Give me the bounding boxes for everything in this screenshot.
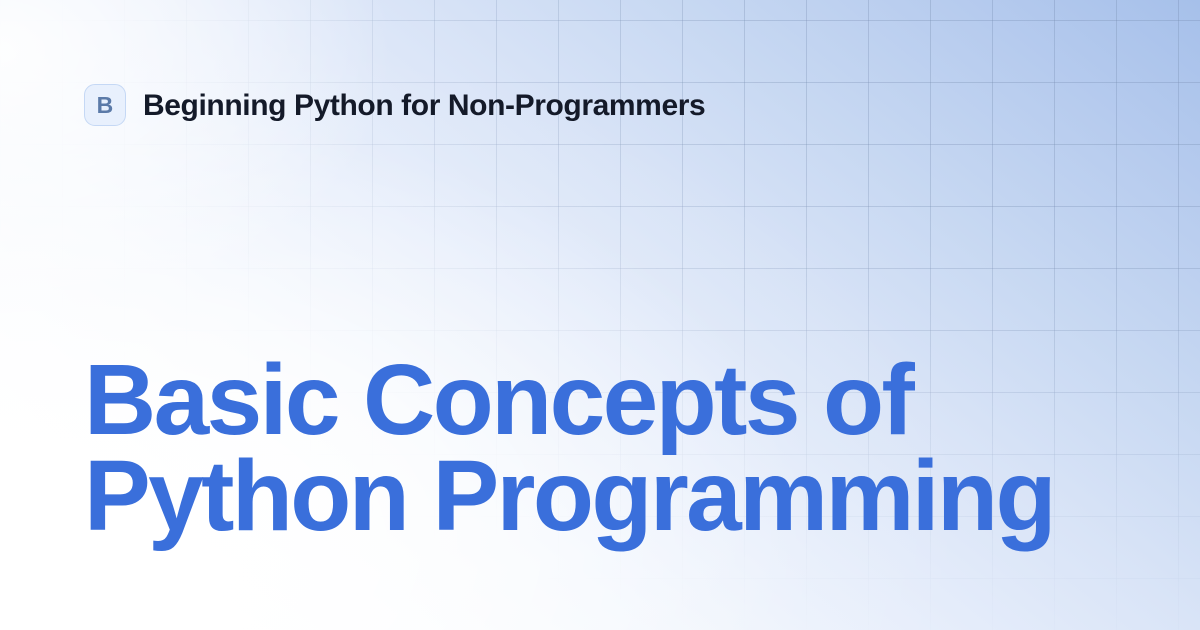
page-title: Basic Concepts of Python Programming	[84, 352, 1084, 544]
brand-name: Beginning Python for Non-Programmers	[143, 89, 705, 122]
brand-row: B Beginning Python for Non-Programmers	[84, 84, 705, 126]
letter-b-badge-icon: B	[84, 84, 126, 126]
page-title-line-2: Python Programming	[84, 448, 1084, 544]
badge-letter: B	[97, 94, 114, 117]
card-content: B Beginning Python for Non-Programmers B…	[0, 0, 1200, 630]
page-title-line-1: Basic Concepts of	[84, 352, 1084, 448]
og-banner-card: B Beginning Python for Non-Programmers B…	[0, 0, 1200, 630]
